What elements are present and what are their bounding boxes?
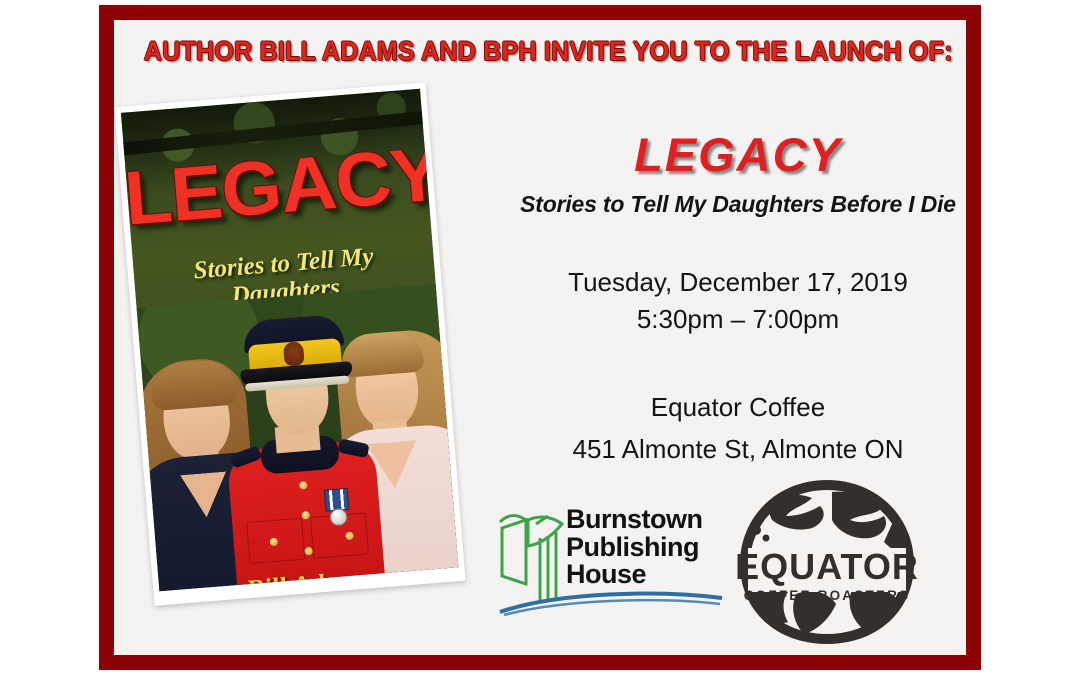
event-poster: AUTHOR BILL ADAMS AND BPH INVITE YOU TO … xyxy=(0,0,1080,675)
equator-wordmark: EQUATOR xyxy=(735,546,919,587)
globe-icon: EQUATOR COFFEE ROASTERS xyxy=(732,472,922,652)
equator-coffee-logo[interactable]: EQUATOR COFFEE ROASTERS xyxy=(732,472,922,652)
bph-line-1: Burnstown xyxy=(566,506,703,534)
bph-line-2: Publishing xyxy=(566,534,703,562)
cover-family-photo: Bill Adams xyxy=(137,284,459,591)
event-time: 5:30pm – 7:00pm xyxy=(510,301,966,338)
book-cover-artwork: LEGACY Stories to Tell My Daughters Befo… xyxy=(121,89,459,592)
burnstown-publishing-wordmark: Burnstown Publishing House xyxy=(566,506,703,589)
event-location: Equator Coffee 451 Almonte St, Almonte O… xyxy=(510,386,966,470)
event-subtitle: Stories to Tell My Daughters Before I Di… xyxy=(510,191,966,218)
bph-line-3: House xyxy=(566,561,703,589)
blue-wave-swoosh-icon xyxy=(498,590,724,616)
event-details: LEGACY Stories to Tell My Daughters Befo… xyxy=(510,130,966,470)
poster-canvas: AUTHOR BILL ADAMS AND BPH INVITE YOU TO … xyxy=(114,20,966,655)
event-title: LEGACY xyxy=(510,130,966,179)
rcmp-cap-badge-icon xyxy=(283,341,305,367)
event-datetime: Tuesday, December 17, 2019 5:30pm – 7:00… xyxy=(510,264,966,338)
poster-headline: AUTHOR BILL ADAMS AND BPH INVITE YOU TO … xyxy=(144,36,936,67)
logo-row: Burnstown Publishing House xyxy=(496,472,966,652)
event-date: Tuesday, December 17, 2019 xyxy=(510,264,966,301)
coffee-roasters-wordmark: COFFEE ROASTERS xyxy=(744,588,911,603)
event-address: 451 Almonte St, Almonte ON xyxy=(510,428,966,470)
author-service-belt xyxy=(246,589,386,591)
book-cover: LEGACY Stories to Tell My Daughters Befo… xyxy=(114,82,465,605)
burnstown-publishing-logo[interactable]: Burnstown Publishing House xyxy=(496,504,724,614)
event-venue: Equator Coffee xyxy=(510,386,966,428)
cover-title: LEGACY xyxy=(122,140,433,234)
open-book-leaf-icon xyxy=(496,510,574,602)
book-cover-image: LEGACY Stories to Tell My Daughters Befo… xyxy=(122,80,467,620)
